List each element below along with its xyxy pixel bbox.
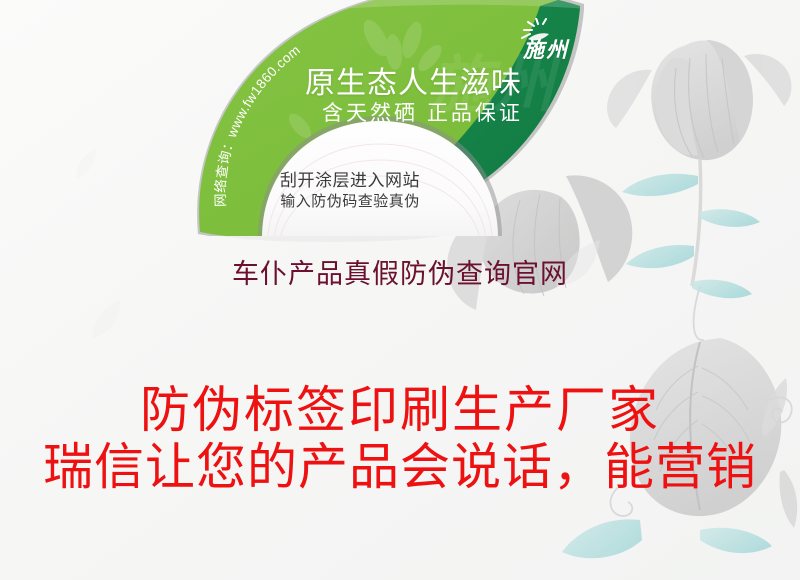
rose-bud-upper-right: [607, 40, 791, 286]
brand-logo: 施州: [508, 18, 584, 68]
promo-banner: 施州 网络查询：www.fw1860.com 原生态人生滋味 含天然硒: [0, 0, 800, 580]
leaf-slogan-sub: 含天然硒 正品保证: [322, 97, 523, 127]
headline-secondary: 瑞信让您的产品会说话，能营销: [0, 427, 800, 499]
leaf-slogan-main: 原生态人生滋味: [305, 58, 522, 102]
scratch-instruction-line-1: 刮开涂层进入网站: [265, 166, 435, 191]
brand-logo-name: 施州: [508, 34, 584, 64]
scratch-instruction-line-2: 输入防伪码查验真伪: [265, 190, 435, 211]
site-title: 车仆产品真假防伪查询官网: [0, 252, 800, 291]
